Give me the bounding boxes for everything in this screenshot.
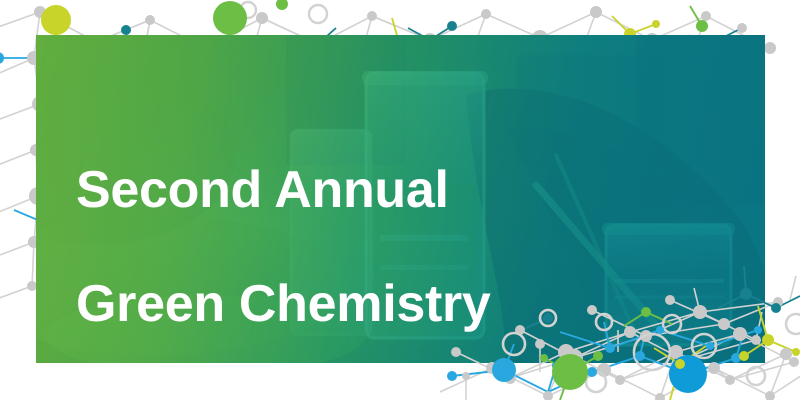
title-line-1: Second Annual bbox=[76, 162, 716, 219]
banner-canvas: Second Annual Green Chemistry Commitment… bbox=[0, 0, 800, 400]
hero-banner: Second Annual Green Chemistry Commitment… bbox=[36, 35, 765, 363]
page-title: Second Annual Green Chemistry Commitment… bbox=[76, 105, 716, 363]
title-line-2: Green Chemistry bbox=[76, 276, 716, 333]
